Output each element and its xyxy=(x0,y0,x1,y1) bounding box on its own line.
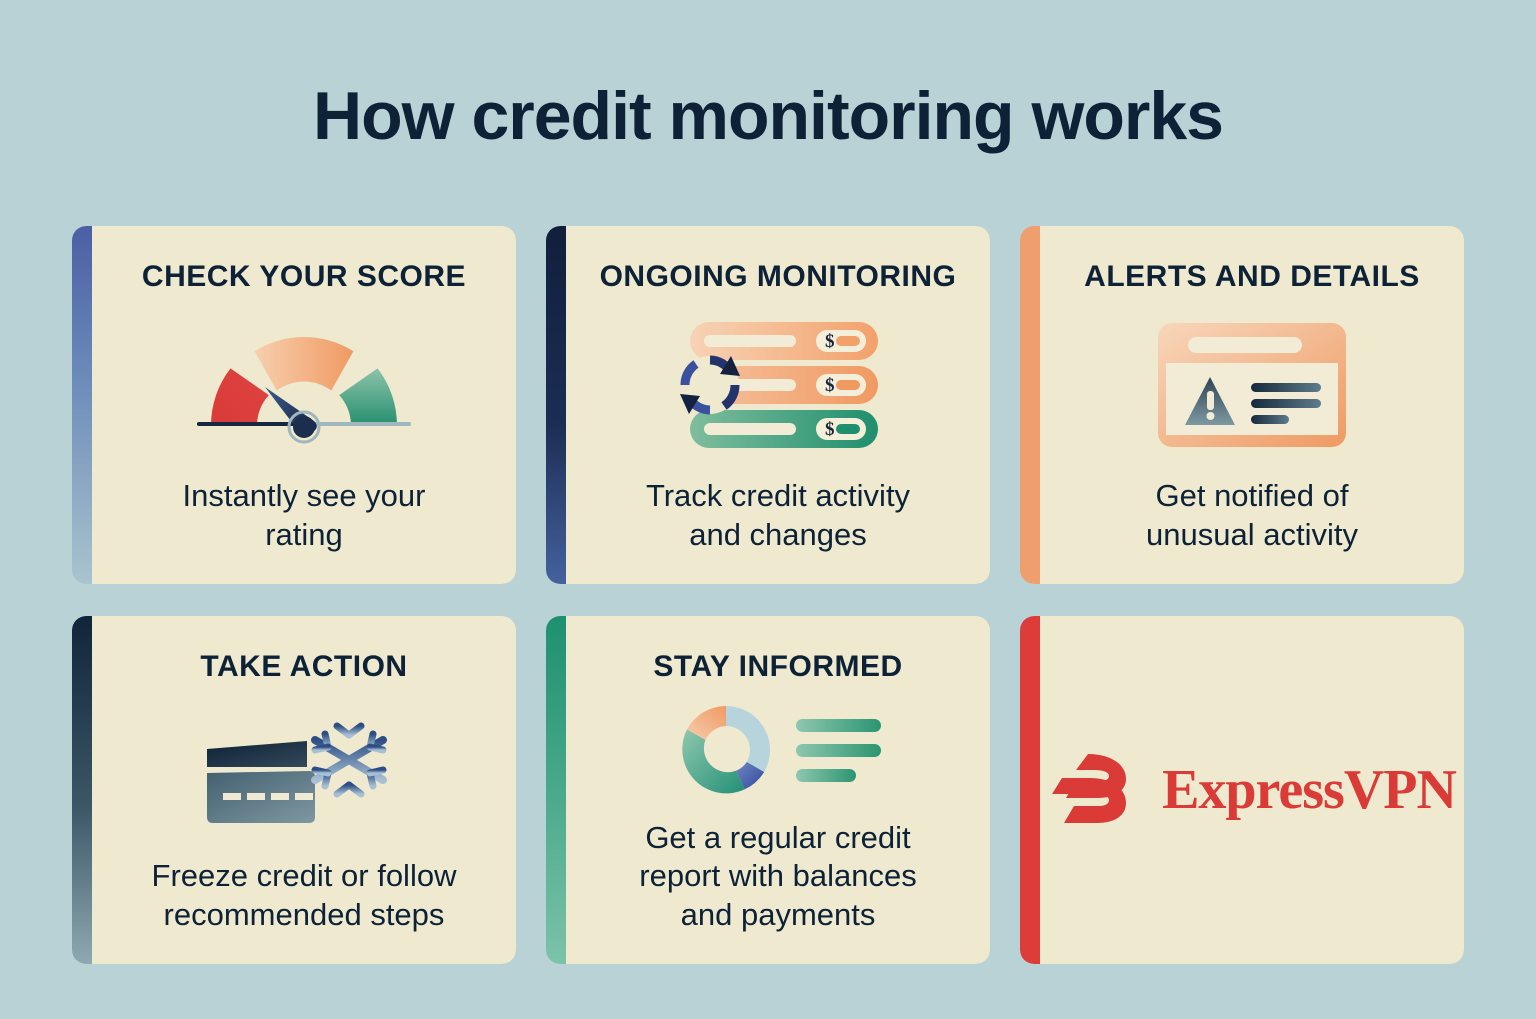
card-stay-informed[interactable]: STAY INFORMED xyxy=(546,616,990,964)
card-accent-bar xyxy=(546,616,566,964)
svg-text:$: $ xyxy=(825,419,835,440)
card-text: Freeze credit or follow recommended step… xyxy=(128,857,481,964)
card-heading: CHECK YOUR SCORE xyxy=(142,260,466,293)
card-accent-bar xyxy=(72,226,92,584)
card-text: Get notified of unusual activity xyxy=(1122,477,1382,584)
card-body: STAY INFORMED xyxy=(566,616,990,964)
infographic-page: How credit monitoring works CHECK YOUR S… xyxy=(0,0,1536,1019)
card-body: TAKE ACTION xyxy=(92,616,516,964)
card-accent-bar xyxy=(1020,616,1040,964)
card-text: Get a regular credit report with balance… xyxy=(615,819,940,964)
card-heading: ALERTS AND DETAILS xyxy=(1084,260,1420,293)
card-accent-bar xyxy=(1020,226,1040,584)
credit-score-gauge-icon xyxy=(92,293,516,477)
card-text: Instantly see your rating xyxy=(159,477,450,584)
card-body: CHECK YOUR SCORE xyxy=(92,226,516,584)
card-expressvpn-brand[interactable]: ExpressVPN xyxy=(1020,616,1464,964)
alert-window-icon xyxy=(1040,293,1464,477)
card-alerts-and-details[interactable]: ALERTS AND DETAILS xyxy=(1020,226,1464,584)
cards-grid: CHECK YOUR SCORE xyxy=(72,226,1464,964)
card-text: Track credit activity and changes xyxy=(622,477,934,584)
card-heading: STAY INFORMED xyxy=(653,650,902,683)
card-heading: ONGOING MONITORING xyxy=(600,260,957,293)
card-body: ExpressVPN xyxy=(1040,616,1464,964)
expressvpn-mark-icon xyxy=(1048,750,1140,831)
card-accent-bar xyxy=(72,616,92,964)
card-accent-bar xyxy=(546,226,566,584)
card-check-your-score[interactable]: CHECK YOUR SCORE xyxy=(72,226,516,584)
page-title: How credit monitoring works xyxy=(0,0,1536,150)
card-body: ONGOING MONITORING xyxy=(566,226,990,584)
card-body: ALERTS AND DETAILS xyxy=(1040,226,1464,584)
card-ongoing-monitoring[interactable]: ONGOING MONITORING xyxy=(546,226,990,584)
expressvpn-wordmark: ExpressVPN xyxy=(1162,758,1456,822)
frozen-credit-card-icon xyxy=(92,683,516,857)
credit-report-donut-icon xyxy=(566,683,990,819)
expressvpn-logo: ExpressVPN xyxy=(1048,750,1456,831)
svg-text:$: $ xyxy=(825,331,835,352)
svg-text:$: $ xyxy=(825,375,835,396)
card-take-action[interactable]: TAKE ACTION xyxy=(72,616,516,964)
card-heading: TAKE ACTION xyxy=(200,650,407,683)
account-sync-rows-icon: $ $ $ xyxy=(566,293,990,477)
